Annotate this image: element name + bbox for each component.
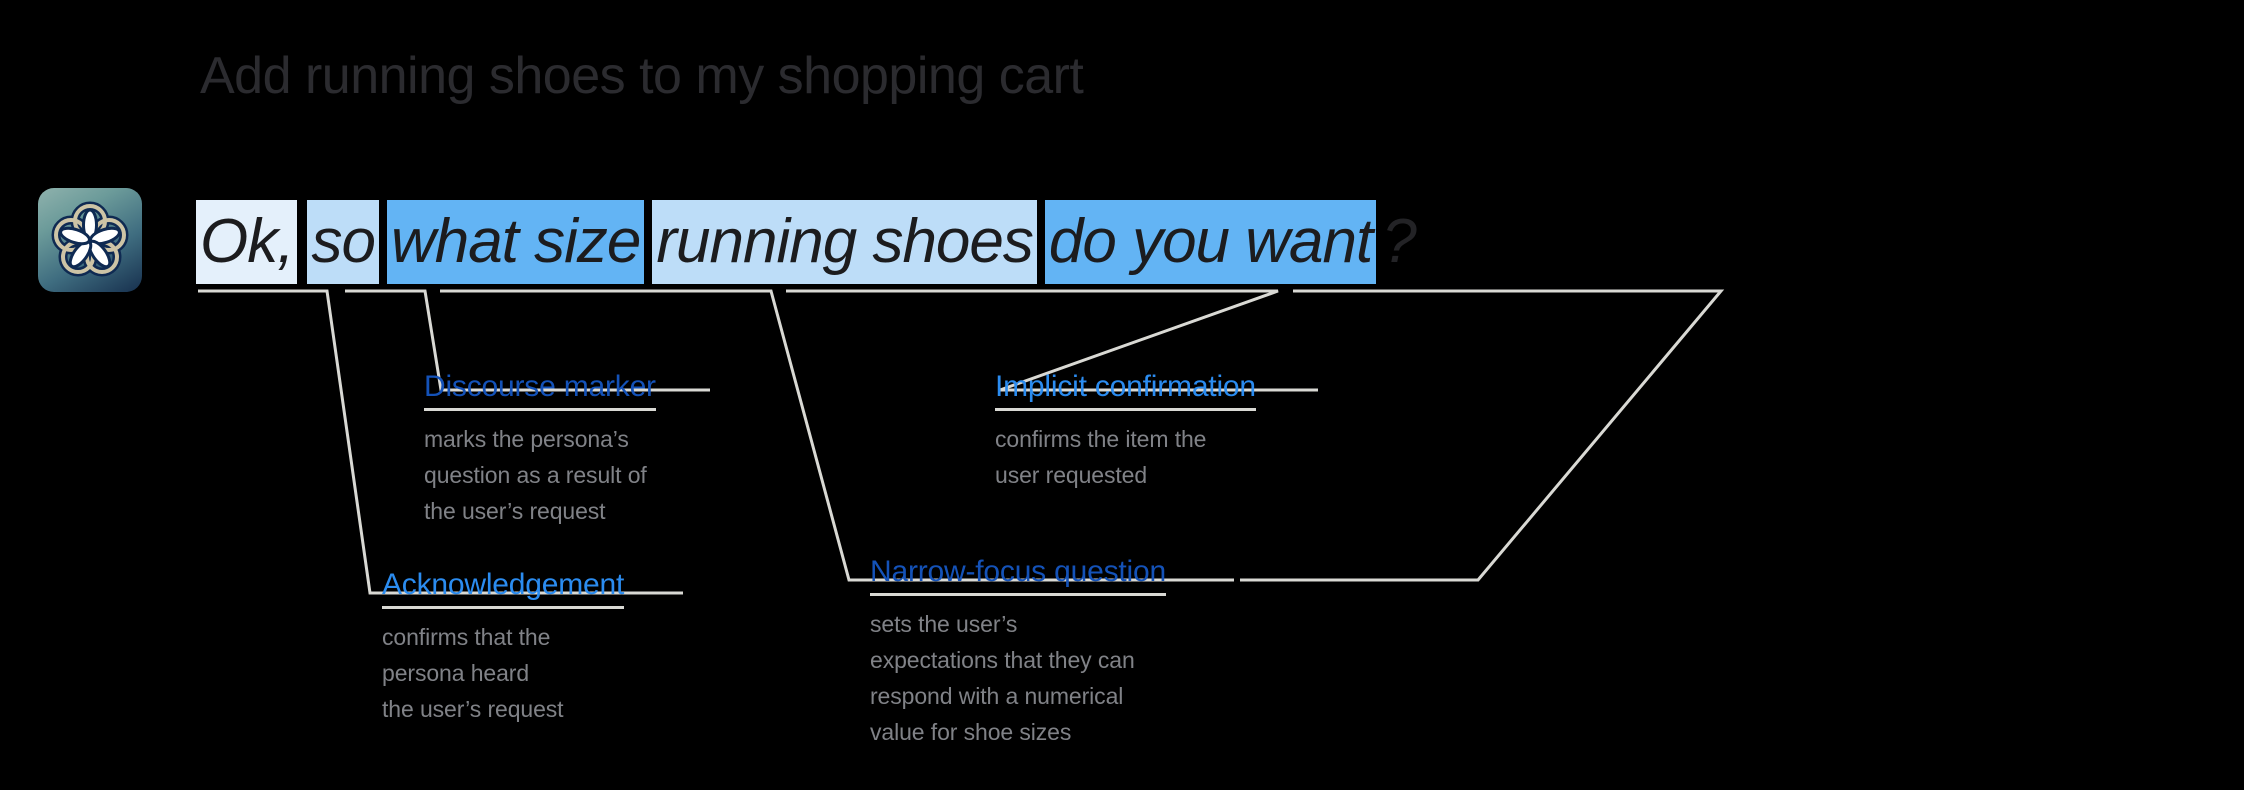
utterance-segment-1[interactable]: so xyxy=(307,200,378,284)
rosette-flower-logo-icon xyxy=(38,188,142,292)
utterance-segment-5: ? xyxy=(1376,200,1419,284)
callout-heading-acknowledgement[interactable]: Acknowledgement xyxy=(382,568,624,609)
callout-body-line: confirms the item the xyxy=(995,421,1256,457)
utterance-segment-0[interactable]: Ok, xyxy=(196,200,297,284)
callout-body-line: question as a result of xyxy=(424,457,656,493)
callout-body-line: user requested xyxy=(995,457,1256,493)
leader-line-do-you-want xyxy=(1240,291,1721,580)
callout-body-line: confirms that the xyxy=(382,619,624,655)
callout-body-implicit-confirmation: confirms the item the user requested xyxy=(995,421,1256,493)
callout-body-narrow-focus-question: sets the user’s expectations that they c… xyxy=(870,606,1166,750)
callout-body-line: persona heard xyxy=(382,655,624,691)
callout-heading-narrow-focus-question[interactable]: Narrow-focus question xyxy=(870,555,1166,596)
callout-heading-implicit-confirmation[interactable]: Implicit confirmation xyxy=(995,370,1256,411)
page-title: Add running shoes to my shopping cart xyxy=(200,45,1083,107)
callout-acknowledgement: Acknowledgement confirms that the person… xyxy=(382,568,624,727)
callout-discourse-marker: Discourse marker marks the persona’s que… xyxy=(424,370,656,529)
callout-body-acknowledgement: confirms that the persona heard the user… xyxy=(382,619,624,727)
callout-body-discourse-marker: marks the persona’s question as a result… xyxy=(424,421,656,529)
callout-body-line: sets the user’s xyxy=(870,606,1166,642)
callout-body-line: the user’s request xyxy=(382,691,624,727)
callout-narrow-focus-question: Narrow-focus question sets the user’s ex… xyxy=(870,555,1166,750)
persona-avatar xyxy=(38,188,142,292)
callout-heading-discourse-marker[interactable]: Discourse marker xyxy=(424,370,656,411)
diagram-canvas: Add running shoes to my shopping cart xyxy=(0,0,2244,790)
persona-utterance: Ok, so what size running shoes do you wa… xyxy=(196,200,1420,284)
utterance-segment-2[interactable]: what size xyxy=(387,200,644,284)
utterance-segment-4[interactable]: do you want xyxy=(1045,200,1376,284)
utterance-segment-3[interactable]: running shoes xyxy=(652,200,1037,284)
callout-implicit-confirmation: Implicit confirmation confirms the item … xyxy=(995,370,1256,493)
callout-body-line: the user’s request xyxy=(424,493,656,529)
callout-body-line: expectations that they can xyxy=(870,642,1166,678)
callout-body-line: value for shoe sizes xyxy=(870,714,1166,750)
callout-body-line: marks the persona’s xyxy=(424,421,656,457)
callout-body-line: respond with a numerical xyxy=(870,678,1166,714)
